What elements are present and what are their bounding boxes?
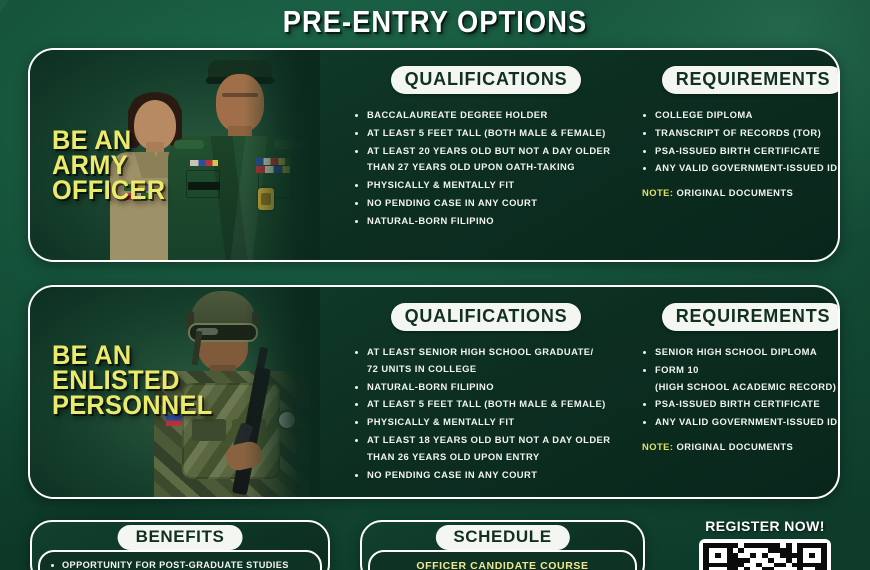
benefits-inner-panel: OPPORTUNITY FOR POST-GRADUATE STUDIES xyxy=(38,550,322,570)
qualifications-column-enlisted: QUALIFICATIONS AT LEAST SENIOR HIGH SCHO… xyxy=(340,303,632,484)
list-item: PHYSICALLY & MENTALLY FIT xyxy=(354,177,632,194)
qualifications-heading: QUALIFICATIONS xyxy=(391,303,582,331)
schedule-card: SCHEDULE OFFICER CANDIDATE COURSE xyxy=(360,520,645,570)
option-card-enlisted-personnel: BE AN ENLISTED PERSONNEL QUALIFICATIONS … xyxy=(28,285,840,499)
qualifications-list-enlisted: AT LEAST SENIOR HIGH SCHOOL GRADUATE/ 72… xyxy=(340,344,632,483)
qualifications-heading: QUALIFICATIONS xyxy=(391,66,582,94)
list-item: FORM 10 (HIGH SCHOOL ACADEMIC RECORD) xyxy=(642,362,840,396)
requirements-list-officer: COLLEGE DIPLOMA TRANSCRIPT OF RECORDS (T… xyxy=(628,107,840,177)
register-block[interactable]: REGISTER NOW! xyxy=(690,518,840,570)
list-item: BACCALAUREATE DEGREE HOLDER xyxy=(354,107,632,124)
list-item: ANY VALID GOVERNMENT-ISSUED ID xyxy=(642,160,840,177)
requirements-column-officer: REQUIREMENTS COLLEGE DIPLOMA TRANSCRIPT … xyxy=(628,66,840,198)
list-item: AT LEAST SENIOR HIGH SCHOOL GRADUATE/ 72… xyxy=(354,344,632,378)
role-title-army-officer: BE AN ARMY OFFICER xyxy=(52,128,165,203)
qr-code-icon[interactable] xyxy=(699,539,831,570)
list-item: TRANSCRIPT OF RECORDS (TOR) xyxy=(642,125,840,142)
requirements-list-enlisted: SENIOR HIGH SCHOOL DIPLOMA FORM 10 (HIGH… xyxy=(628,344,840,431)
benefits-card: BENEFITS OPPORTUNITY FOR POST-GRADUATE S… xyxy=(30,520,330,570)
qr-code-grid xyxy=(703,543,827,570)
list-item: PSA-ISSUED BIRTH CERTIFICATE xyxy=(642,396,840,413)
qualifications-heading-wrap: QUALIFICATIONS xyxy=(340,303,632,331)
benefits-heading: BENEFITS xyxy=(118,525,243,550)
qualifications-list-officer: BACCALAUREATE DEGREE HOLDER AT LEAST 5 F… xyxy=(340,107,632,230)
list-item: NATURAL-BORN FILIPINO xyxy=(354,213,632,230)
list-item: NO PENDING CASE IN ANY COURT xyxy=(354,467,632,484)
requirements-heading-wrap: REQUIREMENTS xyxy=(628,303,840,331)
list-item: COLLEGE DIPLOMA xyxy=(642,107,840,124)
note-text: ORIGINAL DOCUMENTS xyxy=(673,187,793,198)
list-item: AT LEAST 20 YEARS OLD BUT NOT A DAY OLDE… xyxy=(354,143,632,177)
photo-fade-overlay xyxy=(244,287,320,497)
requirements-heading-wrap: REQUIREMENTS xyxy=(628,66,840,94)
schedule-inner-panel: OFFICER CANDIDATE COURSE xyxy=(368,550,637,570)
requirements-column-enlisted: REQUIREMENTS SENIOR HIGH SCHOOL DIPLOMA … xyxy=(628,303,840,452)
photo-fade-overlay xyxy=(244,50,320,260)
register-now-label: REGISTER NOW! xyxy=(690,518,840,534)
note-label: NOTE: xyxy=(642,441,673,452)
list-item: AT LEAST 5 FEET TALL (BOTH MALE & FEMALE… xyxy=(354,125,632,142)
note-text: ORIGINAL DOCUMENTS xyxy=(673,441,793,452)
list-item: AT LEAST 18 YEARS OLD BUT NOT A DAY OLDE… xyxy=(354,432,632,466)
list-item: OPPORTUNITY FOR POST-GRADUATE STUDIES xyxy=(50,558,310,570)
list-item: PSA-ISSUED BIRTH CERTIFICATE xyxy=(642,143,840,160)
note-label: NOTE: xyxy=(642,187,673,198)
list-item: AT LEAST 5 FEET TALL (BOTH MALE & FEMALE… xyxy=(354,396,632,413)
qualifications-heading-wrap: QUALIFICATIONS xyxy=(340,66,632,94)
benefits-list: OPPORTUNITY FOR POST-GRADUATE STUDIES xyxy=(50,558,310,570)
poster-root: PRE-ENTRY OPTIONS xyxy=(0,0,870,570)
list-item: PHYSICALLY & MENTALLY FIT xyxy=(354,414,632,431)
qualifications-column-officer: QUALIFICATIONS BACCALAUREATE DEGREE HOLD… xyxy=(340,66,632,231)
option-card-army-officer: BE AN ARMY OFFICER QUALIFICATIONS BACCAL… xyxy=(28,48,840,262)
role-title-enlisted-personnel: BE AN ENLISTED PERSONNEL xyxy=(52,343,212,418)
requirements-note-enlisted: NOTE: ORIGINAL DOCUMENTS xyxy=(628,441,840,452)
list-item: SENIOR HIGH SCHOOL DIPLOMA xyxy=(642,344,840,361)
schedule-course-name: OFFICER CANDIDATE COURSE xyxy=(380,560,625,570)
requirements-heading: REQUIREMENTS xyxy=(662,303,840,331)
page-title: PRE-ENTRY OPTIONS xyxy=(52,4,818,40)
requirements-note-officer: NOTE: ORIGINAL DOCUMENTS xyxy=(628,187,840,198)
schedule-heading: SCHEDULE xyxy=(435,525,569,550)
list-item: NO PENDING CASE IN ANY COURT xyxy=(354,195,632,212)
list-item: ANY VALID GOVERNMENT-ISSUED ID xyxy=(642,414,840,431)
list-item: NATURAL-BORN FILIPINO xyxy=(354,379,632,396)
requirements-heading: REQUIREMENTS xyxy=(662,66,840,94)
